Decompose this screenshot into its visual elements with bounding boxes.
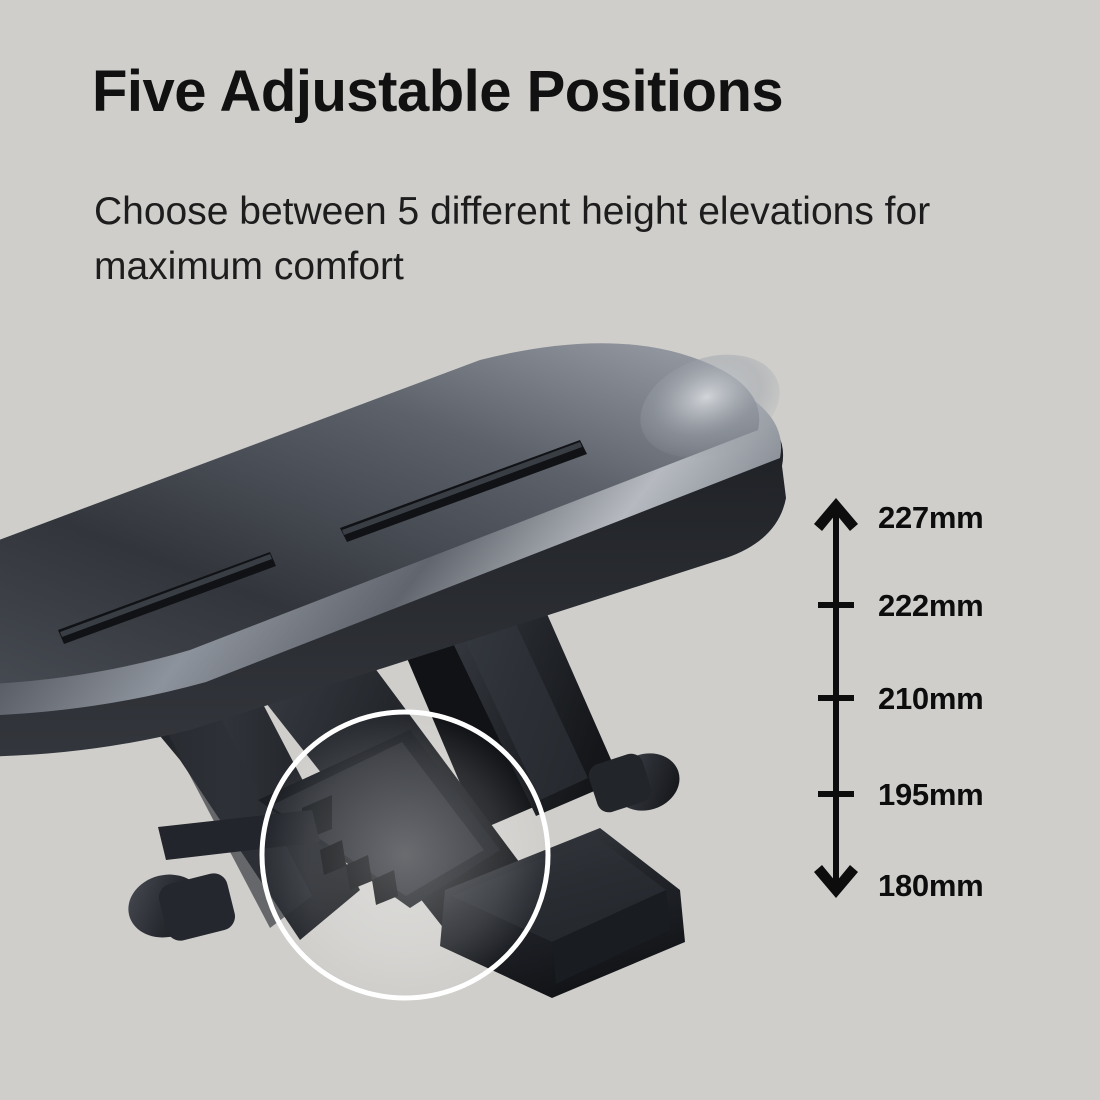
scale-label-222: 222mm: [878, 588, 983, 624]
product-photo-footrest: [0, 330, 860, 1030]
product-feature-banner: Five Adjustable Positions Choose between…: [0, 0, 1100, 1100]
footrest-tray: [0, 330, 794, 757]
page-subtitle: Choose between 5 different height elevat…: [94, 184, 1034, 295]
ratchet-mechanism-callout: [262, 712, 548, 998]
page-title: Five Adjustable Positions: [92, 62, 783, 123]
scale-label-227: 227mm: [878, 500, 983, 536]
scale-label-180: 180mm: [878, 868, 983, 904]
height-measurement-scale: 227mm 222mm 210mm 195mm 180mm: [806, 488, 1056, 908]
scale-label-210: 210mm: [878, 681, 983, 717]
scale-label-195: 195mm: [878, 777, 983, 813]
